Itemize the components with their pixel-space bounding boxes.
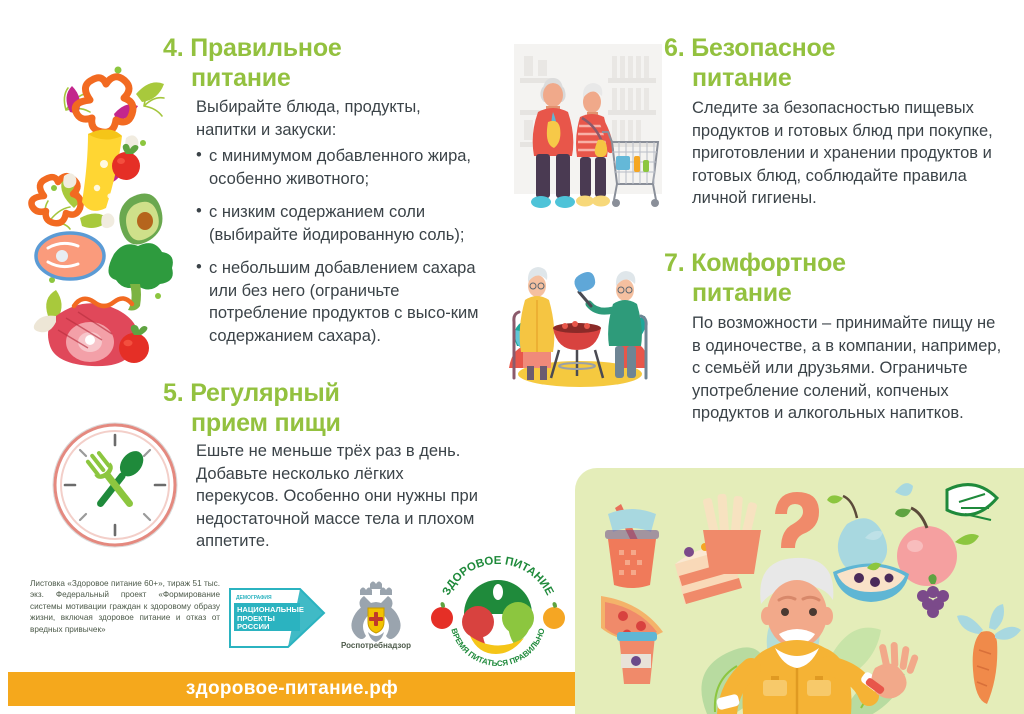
section-4-heading: 4. Правильное питание (163, 33, 493, 93)
list-item: с низким содержанием соли (выбирайте йод… (196, 201, 494, 246)
section-7-body: По возможности – принимайте пищу не в од… (692, 312, 1002, 425)
section-6-body: Следите за безопасностью пищевых продукт… (692, 97, 1004, 210)
rospotrebnadzor-label: Роспотребнадзор (341, 641, 411, 650)
section-7-title-line1: Комфортное (691, 249, 846, 277)
elderly-couple-bbq-illustration (495, 250, 665, 390)
section-6-title-line2: питание (692, 63, 792, 93)
section-4-intro: Выбирайте блюда, продукты, напитки и зак… (196, 96, 496, 141)
leaflet-page: 4. Правильное питание Выбирайте блюда, п… (0, 0, 1024, 714)
natproject-demography-label: ДЕМОГРАФИЯ (236, 595, 272, 601)
elderly-man-choosing-food-illustration (575, 468, 1024, 714)
section-4-title-line2: питание (191, 63, 291, 93)
natproject-line1: НАЦИОНАЛЬНЫЕ (237, 605, 304, 614)
list-item: с небольшим добавлением сахара или без н… (196, 257, 494, 347)
section-5-title-line2: прием пищи (191, 408, 341, 438)
clock-fork-spoon-illustration (48, 418, 182, 552)
rospotrebnadzor-logo: Роспотребнадзор (330, 580, 422, 652)
section-7-heading: 7. Комфортное питание (664, 248, 1004, 308)
section-7-number: 7. (664, 249, 684, 277)
natproject-line3: РОССИИ (237, 622, 269, 631)
section-7-title-line2: питание (692, 278, 792, 308)
national-projects-logo: ДЕМОГРАФИЯ НАЦИОНАЛЬНЫЕ ПРОЕКТЫ РОССИИ (228, 583, 326, 651)
section-4-bullets: с минимумом добавленного жира, особенно … (196, 145, 494, 358)
healthy-food-logo: ЗДОРОВОЕ ПИТАНИЕ ВРЕМЯ ПИТАТЬСЯ ПРАВИЛЬН… (428, 556, 568, 666)
website-url-text: здоровое-питание.рф (186, 678, 398, 700)
section-6-number: 6. (664, 34, 684, 62)
list-item: с минимумом добавленного жира, особенно … (196, 145, 494, 190)
section-4-number: 4. (163, 34, 183, 62)
elderly-couple-shopping-illustration (508, 40, 668, 220)
imprint-text: Листовка «Здоровое питание 60+», тираж 5… (30, 578, 220, 635)
section-6-heading: 6. Безопасное питание (664, 33, 1004, 93)
section-5-heading: 5. Регулярный прием пищи (163, 378, 493, 438)
section-4-intro-line2: напитки и закуски: (196, 121, 336, 139)
food-collage-illustration (18, 48, 173, 383)
section-5-number: 5. (163, 379, 183, 407)
website-url-bar[interactable]: здоровое-питание.рф (8, 672, 576, 706)
section-5-title-line1: Регулярный (190, 379, 340, 407)
section-4-intro-line1: Выбирайте блюда, продукты, (196, 98, 421, 116)
section-6-title-line1: Безопасное (691, 34, 835, 62)
section-4-title-line1: Правильное (190, 34, 341, 62)
section-5-body: Ешьте не меньше трёх раз в день. Добавьт… (196, 440, 486, 553)
